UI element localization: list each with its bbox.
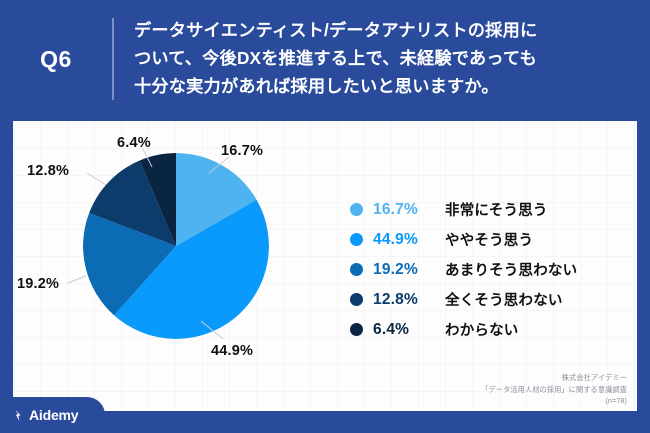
question-number: Q6: [0, 46, 112, 73]
legend-swatch-icon-0: [350, 203, 363, 216]
legend-item-1[interactable]: 44.9% ややそう思う: [350, 225, 620, 254]
pie-chart: [83, 153, 269, 339]
chart-legend: 16.7% 非常にそう思う 44.9% ややそう思う 19.2% あまりそう思わ…: [350, 195, 620, 345]
question-text: データサイエンティスト/データアナリストの採用に ついて、今後DXを推進する上で…: [114, 17, 537, 101]
slide-root: Q6 データサイエンティスト/データアナリストの採用に ついて、今後DXを推進す…: [0, 0, 650, 433]
pie-svg: [83, 153, 269, 339]
legend-swatch-icon-3: [350, 293, 363, 306]
legend-item-4[interactable]: 6.4% わからない: [350, 315, 620, 344]
pie-label-44-9: 44.9%: [211, 343, 253, 359]
legend-swatch-icon-1: [350, 233, 363, 246]
credit-line-1: 株式会社アイデミー: [481, 372, 627, 384]
legend-item-0[interactable]: 16.7% 非常にそう思う: [350, 195, 620, 224]
legend-percent-0: 16.7%: [373, 201, 445, 219]
question-header: Q6 データサイエンティスト/データアナリストの採用に ついて、今後DXを推進す…: [0, 0, 650, 118]
aidemy-swoosh-icon: [14, 409, 25, 422]
credit-line-2: 「データ活用人材の採用」に関する意識調査: [481, 384, 627, 396]
legend-label-4: わからない: [445, 319, 519, 340]
legend-percent-4: 6.4%: [373, 321, 445, 339]
pie-label-12-8: 12.8%: [27, 163, 69, 179]
credit-line-3: (n=78): [481, 395, 627, 407]
brand-logo-text: Aidemy: [29, 407, 78, 423]
legend-percent-1: 44.9%: [373, 231, 445, 249]
legend-label-1: ややそう思う: [445, 229, 533, 250]
legend-label-2: あまりそう思わない: [445, 259, 577, 280]
pie-label-19-2: 19.2%: [17, 276, 59, 292]
legend-swatch-icon-2: [350, 263, 363, 276]
pie-slices: [83, 153, 269, 339]
source-credit: 株式会社アイデミー 「データ活用人材の採用」に関する意識調査 (n=78): [481, 372, 627, 407]
legend-item-3[interactable]: 12.8% 全くそう思わない: [350, 285, 620, 314]
pie-label-6-4: 6.4%: [117, 135, 151, 151]
pie-label-16-7: 16.7%: [221, 143, 263, 159]
legend-percent-2: 19.2%: [373, 261, 445, 279]
legend-item-2[interactable]: 19.2% あまりそう思わない: [350, 255, 620, 284]
legend-label-3: 全くそう思わない: [445, 289, 563, 310]
brand-logo[interactable]: Aidemy: [0, 397, 105, 433]
legend-percent-3: 12.8%: [373, 291, 445, 309]
content-panel: 16.7% 44.9% 19.2% 12.8% 6.4% 16.7% 非常にそう…: [13, 121, 637, 411]
legend-label-0: 非常にそう思う: [445, 199, 548, 220]
legend-swatch-icon-4: [350, 323, 363, 336]
